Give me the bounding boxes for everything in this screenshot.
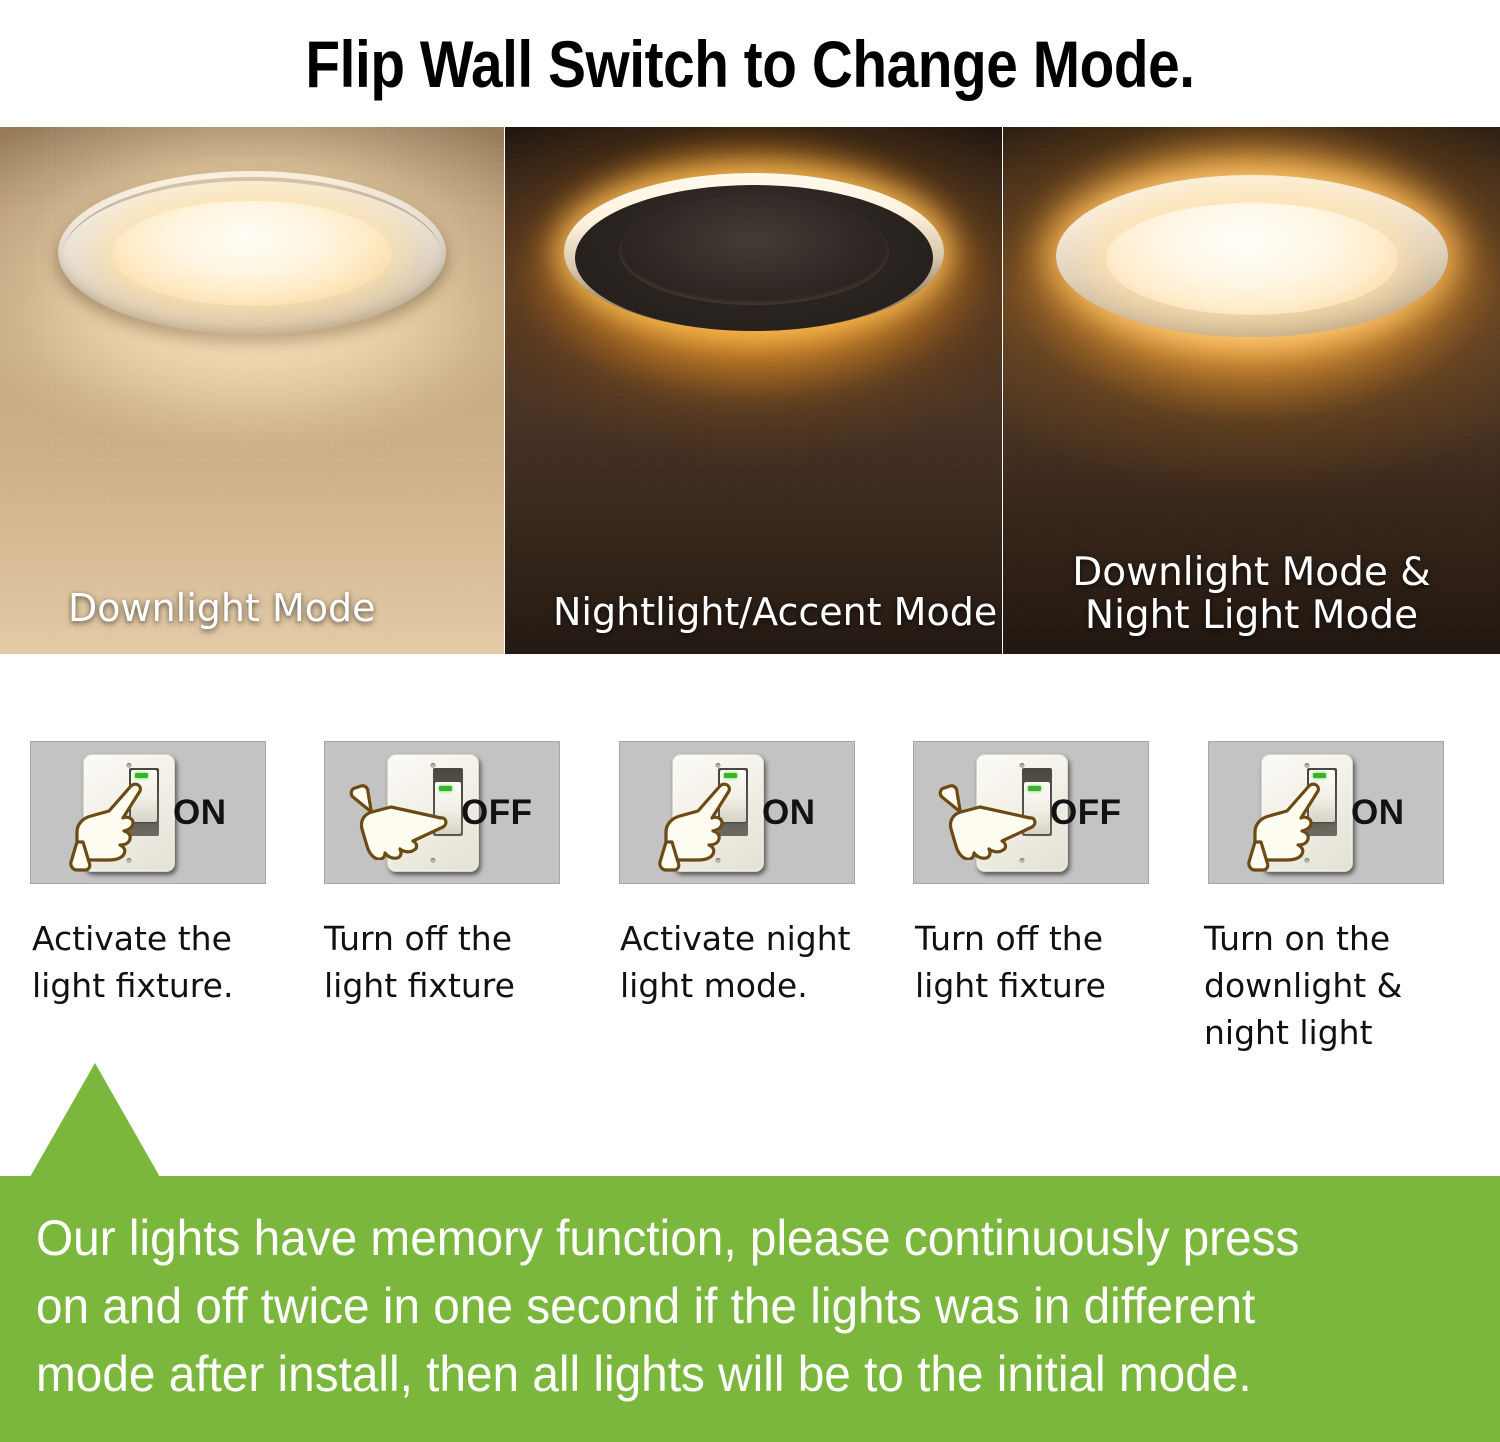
switch-step-card-4: OFF	[913, 741, 1149, 884]
switch-led-indicator-icon	[1313, 773, 1326, 778]
switch-led-indicator-icon	[135, 773, 148, 778]
caption-line: Turn off the	[915, 916, 1185, 963]
caption-line: downlight &	[1204, 963, 1474, 1010]
caption-line: light mode.	[620, 963, 890, 1010]
mode-photo-strip: Downlight Mode Nightlight/Accent Mode Do…	[0, 127, 1500, 654]
step-caption-3: Activate night light mode.	[620, 916, 890, 1010]
plate-screw-icon	[127, 858, 132, 863]
switch-step-card-2: OFF	[324, 741, 560, 884]
memory-function-banner: Our lights have memory function, please …	[0, 1176, 1500, 1442]
switch-led-indicator-icon	[724, 773, 737, 778]
switch-state-label: ON	[762, 793, 816, 833]
switch-led-indicator-icon	[439, 786, 452, 791]
caption-line: light fixture	[324, 963, 594, 1010]
switch-sequence-row: ON OFF ON	[0, 735, 1500, 895]
step-caption-1: Activate the light fixture.	[32, 916, 302, 1010]
caption-line: Activate the	[32, 916, 302, 963]
mode-panel-downlight-and-nightlight: Downlight Mode & Night Light Mode	[1003, 127, 1500, 654]
banner-pointer-triangle	[30, 1063, 160, 1177]
plate-screw-icon	[1305, 858, 1310, 863]
banner-line: Our lights have memory function, please …	[36, 1204, 1402, 1272]
plate-screw-icon	[716, 858, 721, 863]
step-caption-5: Turn on the downlight & night light	[1204, 916, 1474, 1057]
panel-label-line: Night Light Mode	[1003, 594, 1500, 638]
switch-state-label: OFF	[461, 793, 532, 833]
panel-label-nightlight-accent: Nightlight/Accent Mode	[505, 591, 1002, 634]
caption-line: light fixture.	[32, 963, 302, 1010]
step-caption-4: Turn off the light fixture	[915, 916, 1185, 1010]
fixture-lens-lit	[112, 201, 392, 306]
panel-label-line: Nightlight/Accent Mode	[553, 591, 1002, 634]
switch-step-card-3: ON	[619, 741, 855, 884]
switch-state-label: OFF	[1050, 793, 1121, 833]
switch-state-label: ON	[1351, 793, 1405, 833]
switch-led-indicator-icon	[1028, 786, 1041, 791]
panel-label-line: Downlight Mode &	[1003, 551, 1500, 595]
page-title: Flip Wall Switch to Change Mode.	[105, 0, 1395, 127]
switch-step-card-5: ON	[1208, 741, 1444, 884]
caption-line: night light	[1204, 1010, 1474, 1057]
banner-text: Our lights have memory function, please …	[36, 1204, 1402, 1408]
banner-line: on and off twice in one second if the li…	[36, 1272, 1402, 1340]
banner-line: mode after install, then all lights will…	[36, 1340, 1402, 1408]
caption-line: light fixture	[915, 963, 1185, 1010]
switch-state-label: ON	[173, 793, 227, 833]
mode-panel-downlight: Downlight Mode	[0, 127, 504, 654]
panel-label-downlight-and-nightlight: Downlight Mode & Night Light Mode	[1003, 551, 1500, 638]
plate-screw-icon	[431, 858, 436, 863]
step-captions-row: Activate the light fixture. Turn off the…	[0, 916, 1500, 1076]
mode-panel-nightlight-accent: Nightlight/Accent Mode	[505, 127, 1002, 654]
fixture-lens-lit	[1106, 203, 1398, 315]
panel-label-line: Downlight Mode	[68, 587, 504, 630]
switch-step-card-1: ON	[30, 741, 266, 884]
caption-line: Turn on the	[1204, 916, 1474, 963]
panel-label-downlight: Downlight Mode	[0, 587, 504, 630]
step-caption-2: Turn off the light fixture	[324, 916, 594, 1010]
caption-line: Turn off the	[324, 916, 594, 963]
plate-screw-icon	[1020, 858, 1025, 863]
fixture-lens-off	[619, 197, 889, 305]
caption-line: Activate night	[620, 916, 890, 963]
